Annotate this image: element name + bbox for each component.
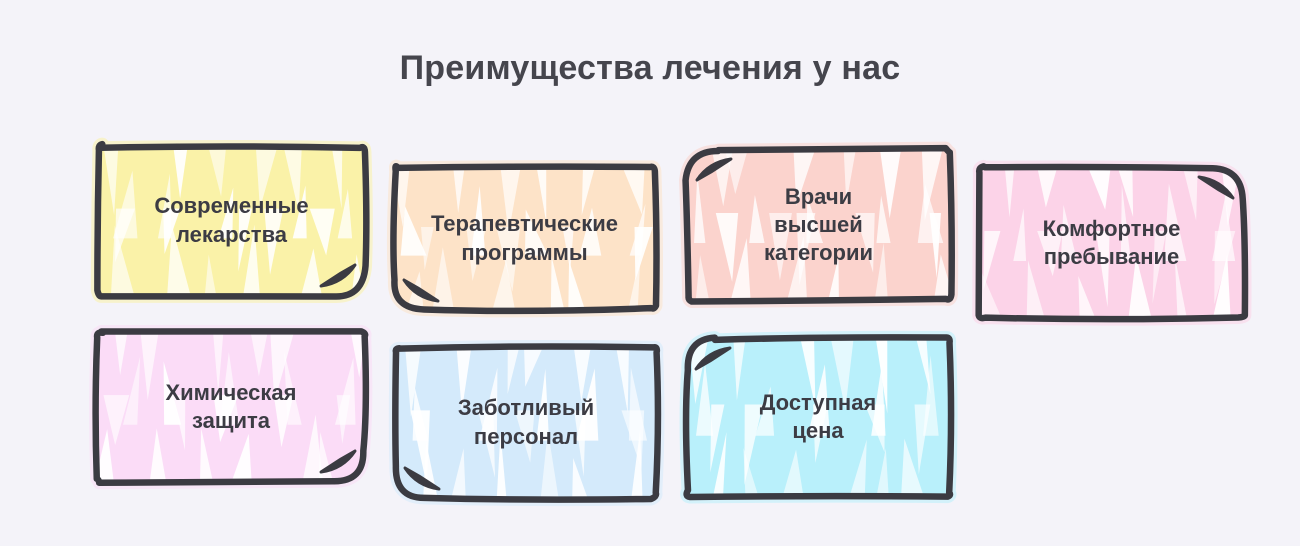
benefit-card-therapeutic-programs[interactable]: Терапевтические программы <box>394 167 655 310</box>
card-shape-comfortable-stay <box>954 142 1269 344</box>
benefit-card-comfortable-stay[interactable]: Комфортное пребывание <box>980 168 1243 318</box>
card-shape-therapeutic-programs <box>368 141 681 336</box>
card-shape-caring-staff <box>369 321 683 524</box>
card-fill <box>393 166 656 311</box>
card-shape-affordable-price <box>660 313 976 521</box>
page-title: Преимущества лечения у нас <box>0 48 1300 89</box>
benefit-card-chemical-protection[interactable]: Химическая защита <box>97 333 365 481</box>
benefit-card-modern-medicines[interactable]: Современные лекарства <box>98 146 365 295</box>
card-shape-chemical-protection <box>71 307 391 507</box>
card-shape-modern-medicines <box>72 120 391 321</box>
card-shape-top-category-doctors <box>661 124 976 326</box>
benefit-card-affordable-price[interactable]: Доступная цена <box>686 339 950 495</box>
benefit-card-top-category-doctors[interactable]: Врачи высшей категории <box>687 150 950 300</box>
benefit-card-caring-staff[interactable]: Заботливый персонал <box>395 347 657 498</box>
benefits-infographic: Преимущества лечения у нас Современные л… <box>0 0 1300 546</box>
